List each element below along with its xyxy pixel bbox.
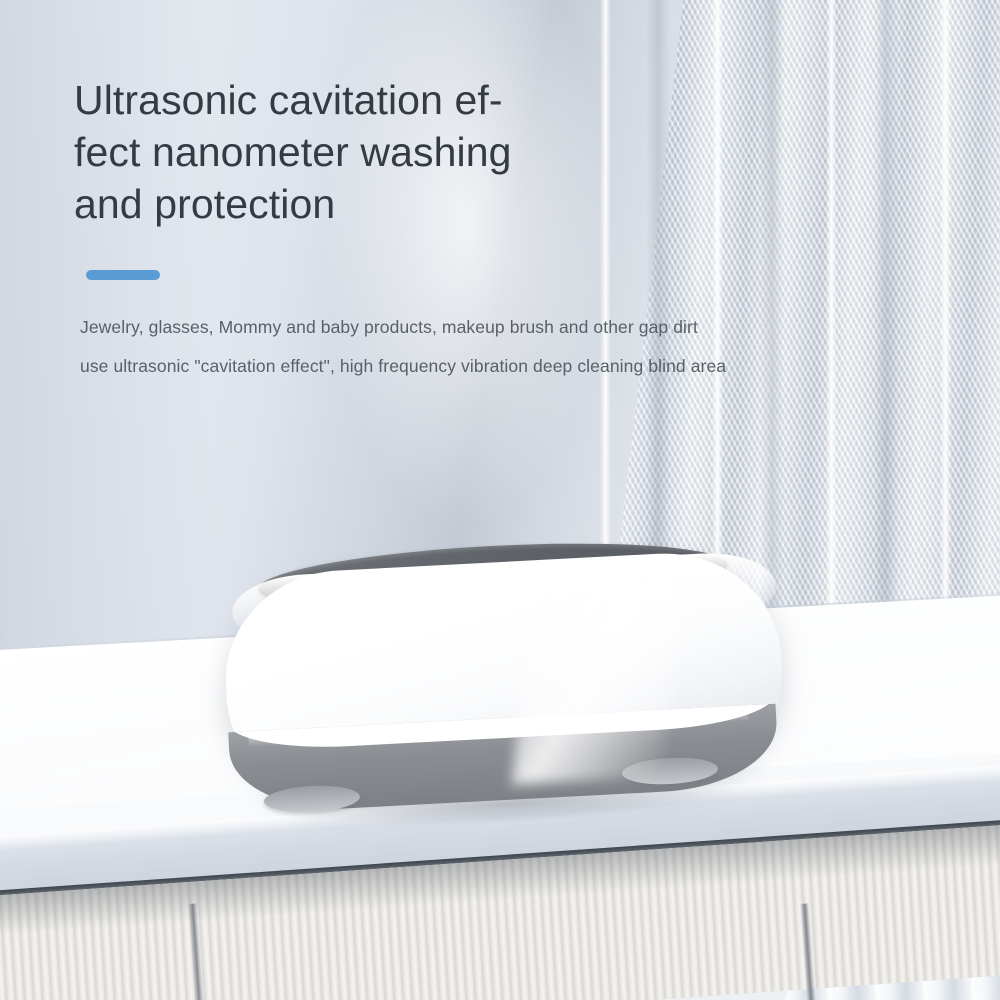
page-title: Ultrasonic cavitation ef- fect nanometer… bbox=[74, 74, 634, 230]
accent-divider bbox=[86, 270, 160, 280]
product-banner: Ultrasonic cavitation ef- fect nanometer… bbox=[0, 0, 1000, 1000]
device-gloss-highlight bbox=[512, 575, 683, 784]
body-text-line-1: Jewelry, glasses, Mommy and baby product… bbox=[80, 317, 698, 338]
product-device bbox=[222, 540, 788, 840]
body-text-line-2: use ultrasonic "cavitation effect", high… bbox=[80, 356, 726, 377]
